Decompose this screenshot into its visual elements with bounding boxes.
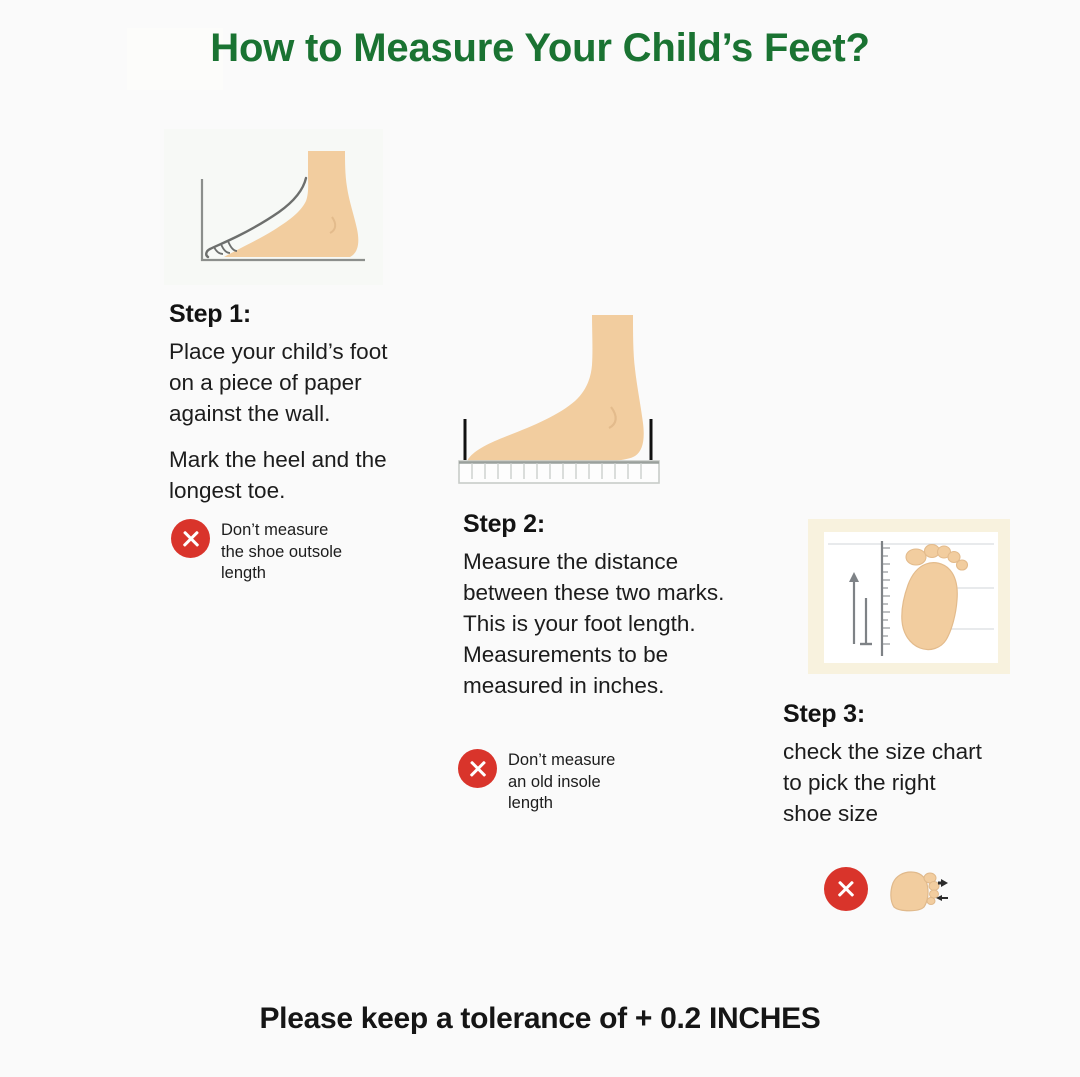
step-3-line-3: shoe size [783,798,1023,829]
step-2-text-block: Step 2: Measure the distance between the… [463,510,783,701]
infographic-page: How to Measure Your Child’s Feet? Step 1… [0,0,1080,1077]
step-3-illustration [808,519,1010,674]
step-3-line-2: to pick the right [783,767,1023,798]
step-1-text-block: Step 1: Place your child’s foot on a pie… [169,300,414,506]
step-2-heading: Step 2: [463,510,783,539]
step-3-text-block: Step 3: check the size chart to pick the… [783,700,1023,829]
step-1-line-4: Mark the heel and the [169,444,414,475]
step-3-body: check the size chart to pick the right s… [783,736,1023,829]
step-1-warning-text: Don’t measure the shoe outsole length [221,519,342,585]
step-1-line-1: Place your child’s foot [169,336,414,367]
foot-on-ruler-with-two-marks-illustration [455,295,695,485]
step-2-line-5: measured in inches. [463,670,783,701]
footprint-on-measuring-chart-illustration [824,532,998,663]
step-1-heading: Step 1: [169,300,414,329]
size-chart-inner-area [824,532,998,663]
step-2-warning-badge: Don’t measure an old insole length [458,749,615,815]
footprint-with-arrows-icon [886,867,932,911]
step-1-illustration [164,129,383,285]
step-2-warning-line-1: Don’t measure [508,750,615,772]
step-2-warning-line-2: an old insole [508,772,615,794]
step-1-line-5: longest toe. [169,475,414,506]
step-2-warning-text: Don’t measure an old insole length [508,749,615,815]
step-1-line-3: against the wall. [169,398,414,429]
step-2-line-2: between these two marks. [463,577,783,608]
step-2-line-1: Measure the distance [463,546,783,577]
step-2-body: Measure the distance between these two m… [463,546,783,701]
step-3-line-1: check the size chart [783,736,1023,767]
step-2-illustration [455,295,695,485]
step-1-warning-line-3: length [221,563,342,585]
foot-traced-against-wall-illustration [164,129,383,285]
red-x-circle-icon [824,867,868,911]
step-1-line-2: on a piece of paper [169,367,414,398]
page-title: How to Measure Your Child’s Feet? [0,26,1080,71]
red-x-circle-icon [458,749,497,788]
step-2-line-3: This is your foot length. [463,608,783,639]
step-1-warning-badge: Don’t measure the shoe outsole length [171,519,342,585]
step-1-warning-line-2: the shoe outsole [221,542,342,564]
step-3-heading: Step 3: [783,700,1023,729]
step-2-line-4: Measurements to be [463,639,783,670]
step-2-warning-line-3: length [508,793,615,815]
red-x-circle-icon [171,519,210,558]
step-1-body: Place your child’s foot on a piece of pa… [169,336,414,506]
step-3-warning-badge [824,867,932,911]
tolerance-note: Please keep a tolerance of + 0.2 INCHES [0,1002,1080,1036]
step-1-warning-line-1: Don’t measure [221,520,342,542]
